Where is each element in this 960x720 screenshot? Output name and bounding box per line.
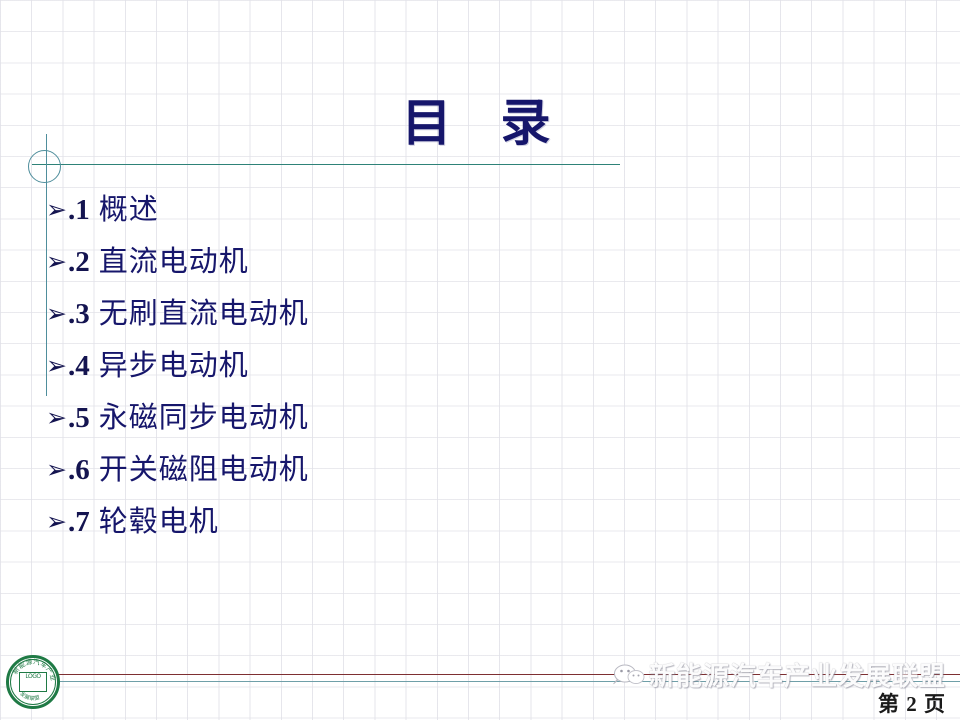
arrow-bullet-icon: ➢ [46,457,67,482]
arrow-bullet-icon: ➢ [46,509,67,534]
toc-item-number: .4 [68,350,90,383]
organization-seal-logo: 新能源汽车产业 发展联盟 LOGO [6,655,64,713]
toc-list: ➢ .1 概述 ➢ .2 直流电动机 ➢ .3 无刷直流电动机 ➢ .4 异步电… [46,186,666,550]
toc-item-label: 无刷直流电动机 [99,290,309,332]
toc-item-number: .2 [68,246,90,279]
arrow-bullet-icon: ➢ [46,301,67,326]
arrow-bullet-icon: ➢ [46,197,67,222]
toc-item-number: .5 [68,402,90,435]
toc-item-7[interactable]: ➢ .7 轮毂电机 [46,498,666,550]
toc-item-label: 开关磁阻电动机 [99,446,309,488]
toc-item-number: .1 [68,194,90,227]
arrow-bullet-icon: ➢ [46,353,67,378]
footer-rule-maroon [58,674,960,675]
page-number: 第 2 页 [878,688,946,718]
seal-center-mark: LOGO [19,672,47,692]
slide-canvas: 目 录 ➢ .1 概述 ➢ .2 直流电动机 ➢ .3 无刷直流电动机 ➢ .4… [0,0,960,720]
toc-item-1[interactable]: ➢ .1 概述 [46,186,666,238]
toc-item-label: 异步电动机 [99,342,249,384]
toc-item-label: 永磁同步电动机 [99,394,309,436]
toc-item-label: 直流电动机 [99,238,249,280]
decorative-circle [28,150,61,183]
toc-item-2[interactable]: ➢ .2 直流电动机 [46,238,666,290]
arrow-bullet-icon: ➢ [46,249,67,274]
page-title: 目 录 [0,92,960,154]
toc-item-label: 概述 [99,186,159,228]
title-underline-rule [32,164,620,165]
toc-item-5[interactable]: ➢ .5 永磁同步电动机 [46,394,666,446]
toc-item-number: .7 [68,506,90,539]
toc-item-number: .6 [68,454,90,487]
toc-item-6[interactable]: ➢ .6 开关磁阻电动机 [46,446,666,498]
toc-item-4[interactable]: ➢ .4 异步电动机 [46,342,666,394]
arrow-bullet-icon: ➢ [46,405,67,430]
toc-item-3[interactable]: ➢ .3 无刷直流电动机 [46,290,666,342]
footer-rule-teal [58,681,960,682]
toc-item-label: 轮毂电机 [99,498,219,540]
toc-item-number: .3 [68,298,90,331]
